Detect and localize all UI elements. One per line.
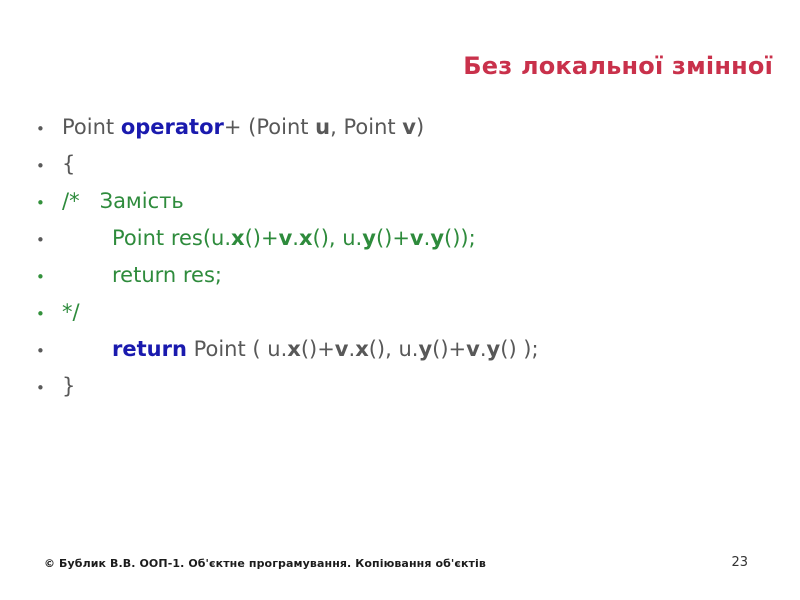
code-token: ()+ (301, 337, 335, 361)
code-token: ()); (444, 226, 476, 250)
slide-canvas: Без локальної змінної •Point operator+ (… (0, 0, 800, 600)
code-token: Point ( u. (187, 337, 287, 361)
code-line-text: /* Замість (62, 186, 780, 216)
code-line: •Point operator+ (Point u, Point v) (36, 112, 780, 149)
code-token: { (62, 152, 75, 176)
code-token: . (480, 337, 487, 361)
footer-copyright: © Бублик В.В. ООП-1. Об'єктне програмува… (44, 557, 486, 570)
code-token: y (418, 337, 432, 361)
code-token: */ (62, 300, 80, 324)
code-token: v (335, 337, 349, 361)
code-token: x (231, 226, 245, 250)
bullet-marker-icon: • (36, 299, 62, 329)
bullet-marker-icon: • (36, 262, 62, 292)
code-token: v (279, 226, 293, 250)
bullet-marker-icon: • (36, 336, 62, 366)
code-token: x (355, 337, 369, 361)
code-line-text: Point operator+ (Point u, Point v) (62, 112, 780, 142)
code-token: y (430, 226, 444, 250)
code-line-text: Point res(u.x()+v.x(), u.y()+v.y()); (62, 223, 780, 253)
code-bullet-list: •Point operator+ (Point u, Point v)•{•/*… (36, 112, 780, 408)
bullet-marker-icon: • (36, 373, 62, 403)
page-number: 23 (731, 555, 748, 570)
code-token: ) (416, 115, 424, 139)
code-token: Point (62, 115, 121, 139)
code-token: . (292, 226, 299, 250)
code-token: return (112, 337, 187, 361)
code-line: •{ (36, 149, 780, 186)
code-token: return res; (112, 263, 222, 287)
code-token: y (362, 226, 376, 250)
code-line: •Point res(u.x()+v.x(), u.y()+v.y()); (36, 223, 780, 260)
code-line: •/* Замість (36, 186, 780, 223)
code-token: ()+ (376, 226, 410, 250)
code-token: x (299, 226, 313, 250)
code-line-text: */ (62, 297, 780, 327)
code-line: •*/ (36, 297, 780, 334)
bullet-marker-icon: • (36, 114, 62, 144)
page-title: Без локальної змінної (40, 52, 773, 80)
code-token: /* Замість (62, 189, 184, 213)
bullet-marker-icon: • (36, 225, 62, 255)
code-token: u (315, 115, 330, 139)
code-token: y (487, 337, 501, 361)
code-token: ()+ (432, 337, 466, 361)
code-token: operator (121, 115, 224, 139)
bullet-marker-icon: • (36, 188, 62, 218)
code-token: Point res(u. (112, 226, 231, 250)
bullet-marker-icon: • (36, 151, 62, 181)
code-token: x (287, 337, 301, 361)
code-line: •} (36, 371, 780, 408)
code-line: •return Point ( u.x()+v.x(), u.y()+v.y()… (36, 334, 780, 371)
code-token: + (Point (224, 115, 315, 139)
code-line-text: } (62, 371, 780, 401)
code-token: } (62, 374, 75, 398)
code-line-text: return Point ( u.x()+v.x(), u.y()+v.y() … (62, 334, 780, 364)
code-token: v (466, 337, 480, 361)
code-token: ()+ (245, 226, 279, 250)
code-token: v (402, 115, 416, 139)
code-line-text: return res; (62, 260, 780, 290)
code-line: •return res; (36, 260, 780, 297)
code-token: () ); (500, 337, 538, 361)
code-line-text: { (62, 149, 780, 179)
code-token: (), u. (313, 226, 363, 250)
code-token: (), u. (369, 337, 419, 361)
code-token: v (410, 226, 424, 250)
code-token: , Point (330, 115, 402, 139)
